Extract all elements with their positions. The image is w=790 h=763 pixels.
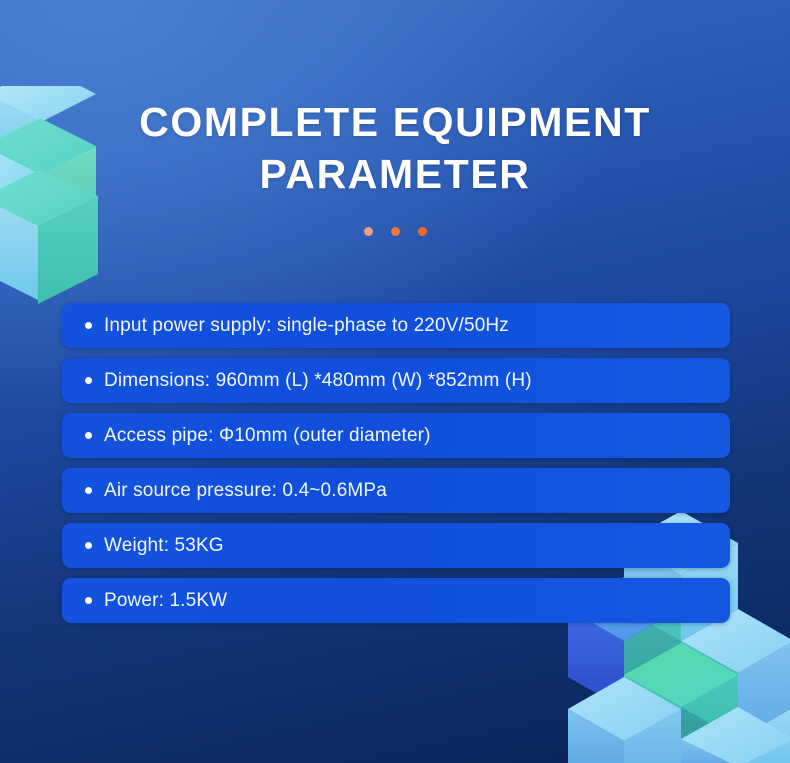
spec-row: Access pipe: Φ10mm (outer diameter) [62,413,730,458]
bullet-icon [85,487,92,494]
decorative-dots [0,227,790,236]
spec-label: Air source pressure: 0.4~0.6MPa [104,480,387,502]
spec-row: Power: 1.5KW [62,578,730,623]
bullet-icon [85,597,92,604]
decorative-dot-3 [418,227,427,236]
spec-row: Input power supply: single-phase to 220V… [62,303,730,348]
spec-label: Power: 1.5KW [104,590,227,612]
spec-row: Dimensions: 960mm (L) *480mm (W) *852mm … [62,358,730,403]
equipment-parameter-slide: COMPLETE EQUIPMENT PARAMETER Input power… [0,0,790,763]
spec-row: Weight: 53KG [62,523,730,568]
spec-label: Input power supply: single-phase to 220V… [104,315,509,337]
bullet-icon [85,322,92,329]
bullet-icon [85,542,92,549]
spec-row: Air source pressure: 0.4~0.6MPa [62,468,730,513]
page-title-line-2: PARAMETER [0,148,790,200]
decorative-dot-2 [391,227,400,236]
equipment-parameter-list: Input power supply: single-phase to 220V… [62,303,730,623]
decorative-dot-1 [364,227,373,236]
spec-label: Weight: 53KG [104,535,224,557]
bullet-icon [85,432,92,439]
page-title: COMPLETE EQUIPMENT PARAMETER [0,96,790,201]
spec-label: Dimensions: 960mm (L) *480mm (W) *852mm … [104,370,532,392]
bullet-icon [85,377,92,384]
slide-header: COMPLETE EQUIPMENT PARAMETER [0,96,790,236]
spec-label: Access pipe: Φ10mm (outer diameter) [104,425,431,447]
page-title-line-1: COMPLETE EQUIPMENT [0,96,790,148]
